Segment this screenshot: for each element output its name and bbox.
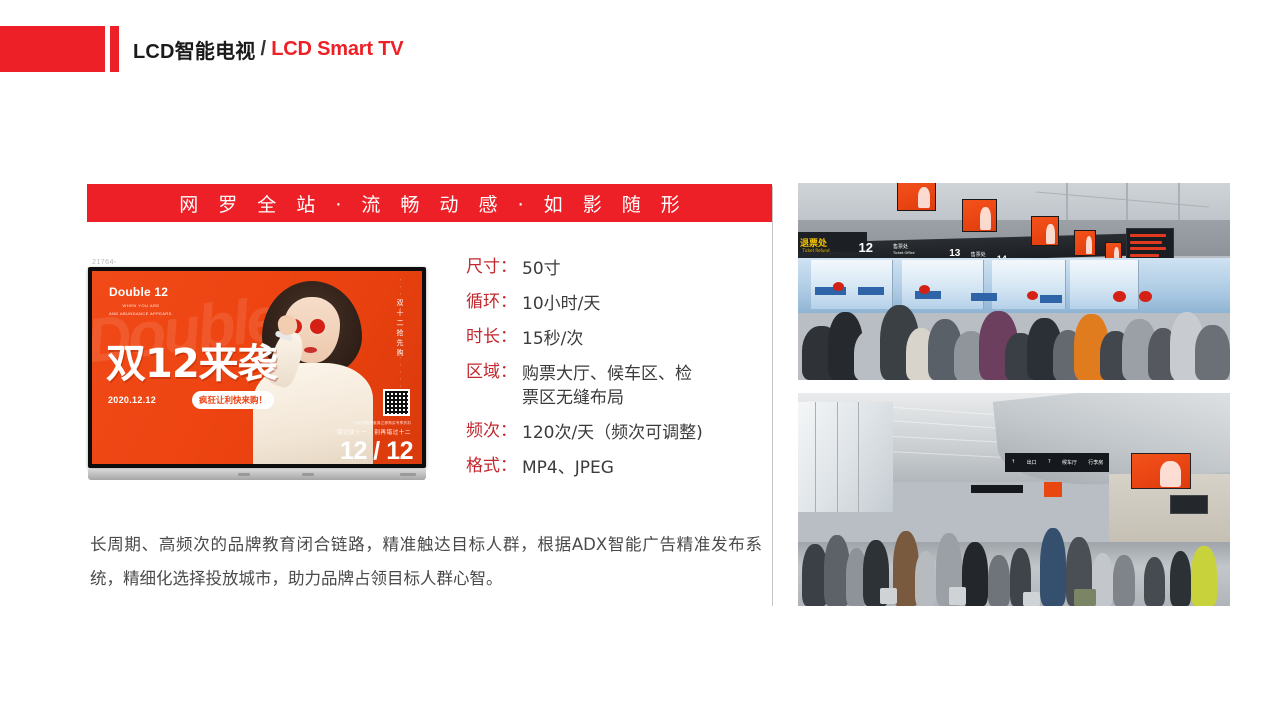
tv-stand-logo	[400, 473, 416, 476]
tv-bezel: Double Double 12 WHEN YOU ARE AND ABUNDA…	[88, 267, 426, 468]
ad-headline: 双12来袭	[106, 344, 277, 384]
lcd-screen-ad-3	[1031, 216, 1059, 246]
page-title-cn: LCD智能电视	[133, 35, 256, 64]
spec-list: 尺寸： 50寸 循环： 10小时/天 时长： 15秒/次 区域： 购票大厅、候车…	[466, 257, 766, 491]
tv-artifact-text: 21764-	[92, 259, 117, 266]
hall-person-11	[1040, 528, 1066, 606]
spec-value-loop: 10小时/天	[522, 292, 600, 316]
spec-value-area-line2: 票区无缝布局	[522, 386, 692, 410]
spec-label-size: 尺寸：	[466, 257, 517, 278]
header-red-block	[0, 26, 105, 72]
red-lantern-1	[833, 282, 844, 291]
hall-person-6	[915, 551, 937, 606]
ticket-hall-crowd	[798, 293, 1230, 380]
ad-date: 2020.12.12	[108, 395, 156, 405]
spec-label-loop: 循环：	[466, 292, 517, 313]
spec-label-duration: 时长：	[466, 327, 517, 348]
sign-waiting-label: 候车厅	[1062, 459, 1077, 466]
model-lips	[304, 347, 317, 353]
sign-exit-label: 出口	[1027, 459, 1037, 466]
header-red-tick	[110, 26, 119, 72]
tv-stand-mark-left	[238, 473, 250, 476]
page-title-separator: /	[261, 38, 267, 61]
led-row-2	[1130, 241, 1162, 244]
spec-value-size: 50寸	[522, 257, 561, 281]
spec-row-loop: 循环： 10小时/天	[466, 292, 766, 316]
counter-number-12: 12	[858, 240, 872, 255]
ad-promo-pill: 疯狂让利快来购！	[192, 391, 274, 409]
spec-row-frequency: 频次： 120次/天（频次可调整)	[466, 421, 766, 445]
led-row-4	[1130, 254, 1159, 257]
lcd-screen-ad-1	[897, 183, 936, 211]
tv-stand-mark-right	[302, 473, 314, 476]
luggage-3	[1023, 592, 1040, 606]
counter-label-12: 售票处 Ticket Office	[893, 244, 915, 256]
hall-crowd	[798, 495, 1230, 606]
model-sunglasses-right	[308, 317, 327, 336]
spec-label-frequency: 频次：	[466, 421, 517, 442]
ad-qr-caption: 扫码领取优惠券立即购买专享折扣	[354, 421, 411, 426]
hall-person-17	[1191, 546, 1217, 606]
spec-value-area-line1: 购票大厅、候车区、检	[522, 364, 692, 384]
luggage-2	[949, 587, 966, 605]
ad-big-number: 12 / 12	[340, 437, 413, 464]
luggage-1	[880, 588, 897, 604]
sign-refund-cn: 退票处	[800, 236, 827, 249]
spec-label-format: 格式：	[466, 456, 517, 477]
ad-vertical-text: 双十二抢先购	[395, 299, 405, 359]
photo-waiting-hall: ↑ 出口 ? 候车厅 行李房	[798, 393, 1230, 606]
spec-row-area: 区域： 购票大厅、候车区、检 票区无缝布局	[466, 362, 766, 410]
hall-person-9	[988, 555, 1010, 606]
lcd-screen-ad-2	[962, 199, 997, 232]
spec-row-size: 尺寸： 50寸	[466, 257, 766, 281]
sign-luggage-label: 行李房	[1088, 459, 1103, 466]
lcd-screen-hall	[1131, 453, 1191, 489]
spec-row-format: 格式： MP4、JPEG	[466, 456, 766, 480]
person-17	[1195, 325, 1230, 380]
description-paragraph: 长周期、高频次的品牌教育闭合链路，精准触达目标人群，根据ADX智能广告精准发布系…	[90, 528, 762, 596]
ad-subtext: 错过双十一 · 别再错过十二	[337, 428, 411, 436]
tv-screen: Double Double 12 WHEN YOU ARE AND ABUNDA…	[92, 271, 422, 464]
spec-label-area: 区域：	[466, 362, 517, 383]
luggage-4	[1074, 589, 1096, 606]
qr-code-pattern	[385, 391, 408, 414]
page-header: LCD智能电视 / LCD Smart TV	[0, 26, 420, 72]
page-title-en: LCD Smart TV	[271, 38, 403, 61]
wayfinding-sign-far	[971, 485, 1023, 494]
sign-info-icon: ?	[1048, 459, 1051, 465]
qr-code-icon	[383, 389, 410, 416]
ad-brand-block: Double 12 WHEN YOU ARE AND ABUNDANCE APP…	[109, 285, 173, 316]
spec-value-frequency: 120次/天（频次可调整)	[522, 421, 703, 445]
lcd-tv-mockup: 21764- Double Double 12 WHEN YOU ARE AND…	[88, 258, 430, 480]
lcd-screen-ad-4	[1074, 230, 1096, 256]
counter-label-12-en: Ticket Office	[893, 250, 915, 256]
spec-row-duration: 时长： 15秒/次	[466, 327, 766, 351]
hall-person-14	[1113, 555, 1135, 606]
sign-refund-en: Ticket Refund	[802, 248, 829, 253]
hall-person-16	[1170, 551, 1192, 606]
column-divider	[772, 186, 773, 606]
sign-arrow-icon: ↑	[1011, 459, 1015, 465]
model-sunglasses-bridge	[304, 325, 309, 327]
led-row-3	[1130, 247, 1166, 250]
section-banner: 网 罗 全 站 · 流 畅 动 感 · 如 影 随 形	[87, 184, 772, 222]
wayfinding-sign: ↑ 出口 ? 候车厅 行李房	[1005, 453, 1109, 472]
spec-value-duration: 15秒/次	[522, 327, 583, 351]
ad-brand-title: Double 12	[109, 285, 173, 299]
photo-ticket-hall: 退票处 Ticket Refund 12 售票处 Ticket Office 1…	[798, 183, 1230, 380]
spec-value-area: 购票大厅、候车区、检 票区无缝布局	[522, 362, 692, 410]
tv-stand	[88, 469, 426, 480]
ad-brand-line1: WHEN YOU ARE	[109, 303, 173, 308]
page-title: LCD智能电视 / LCD Smart TV	[133, 28, 403, 70]
banner-text: 网 罗 全 站 · 流 畅 动 感 · 如 影 随 形	[172, 190, 687, 217]
hall-person-15	[1144, 557, 1166, 606]
hall-person-8	[962, 542, 988, 606]
spec-value-format: MP4、JPEG	[522, 456, 614, 480]
ad-brand-line2: AND ABUNDANCE APPEARS.	[109, 311, 173, 316]
ad-dots-bottom: · · · · ·	[397, 357, 403, 389]
led-row-1	[1130, 234, 1166, 237]
